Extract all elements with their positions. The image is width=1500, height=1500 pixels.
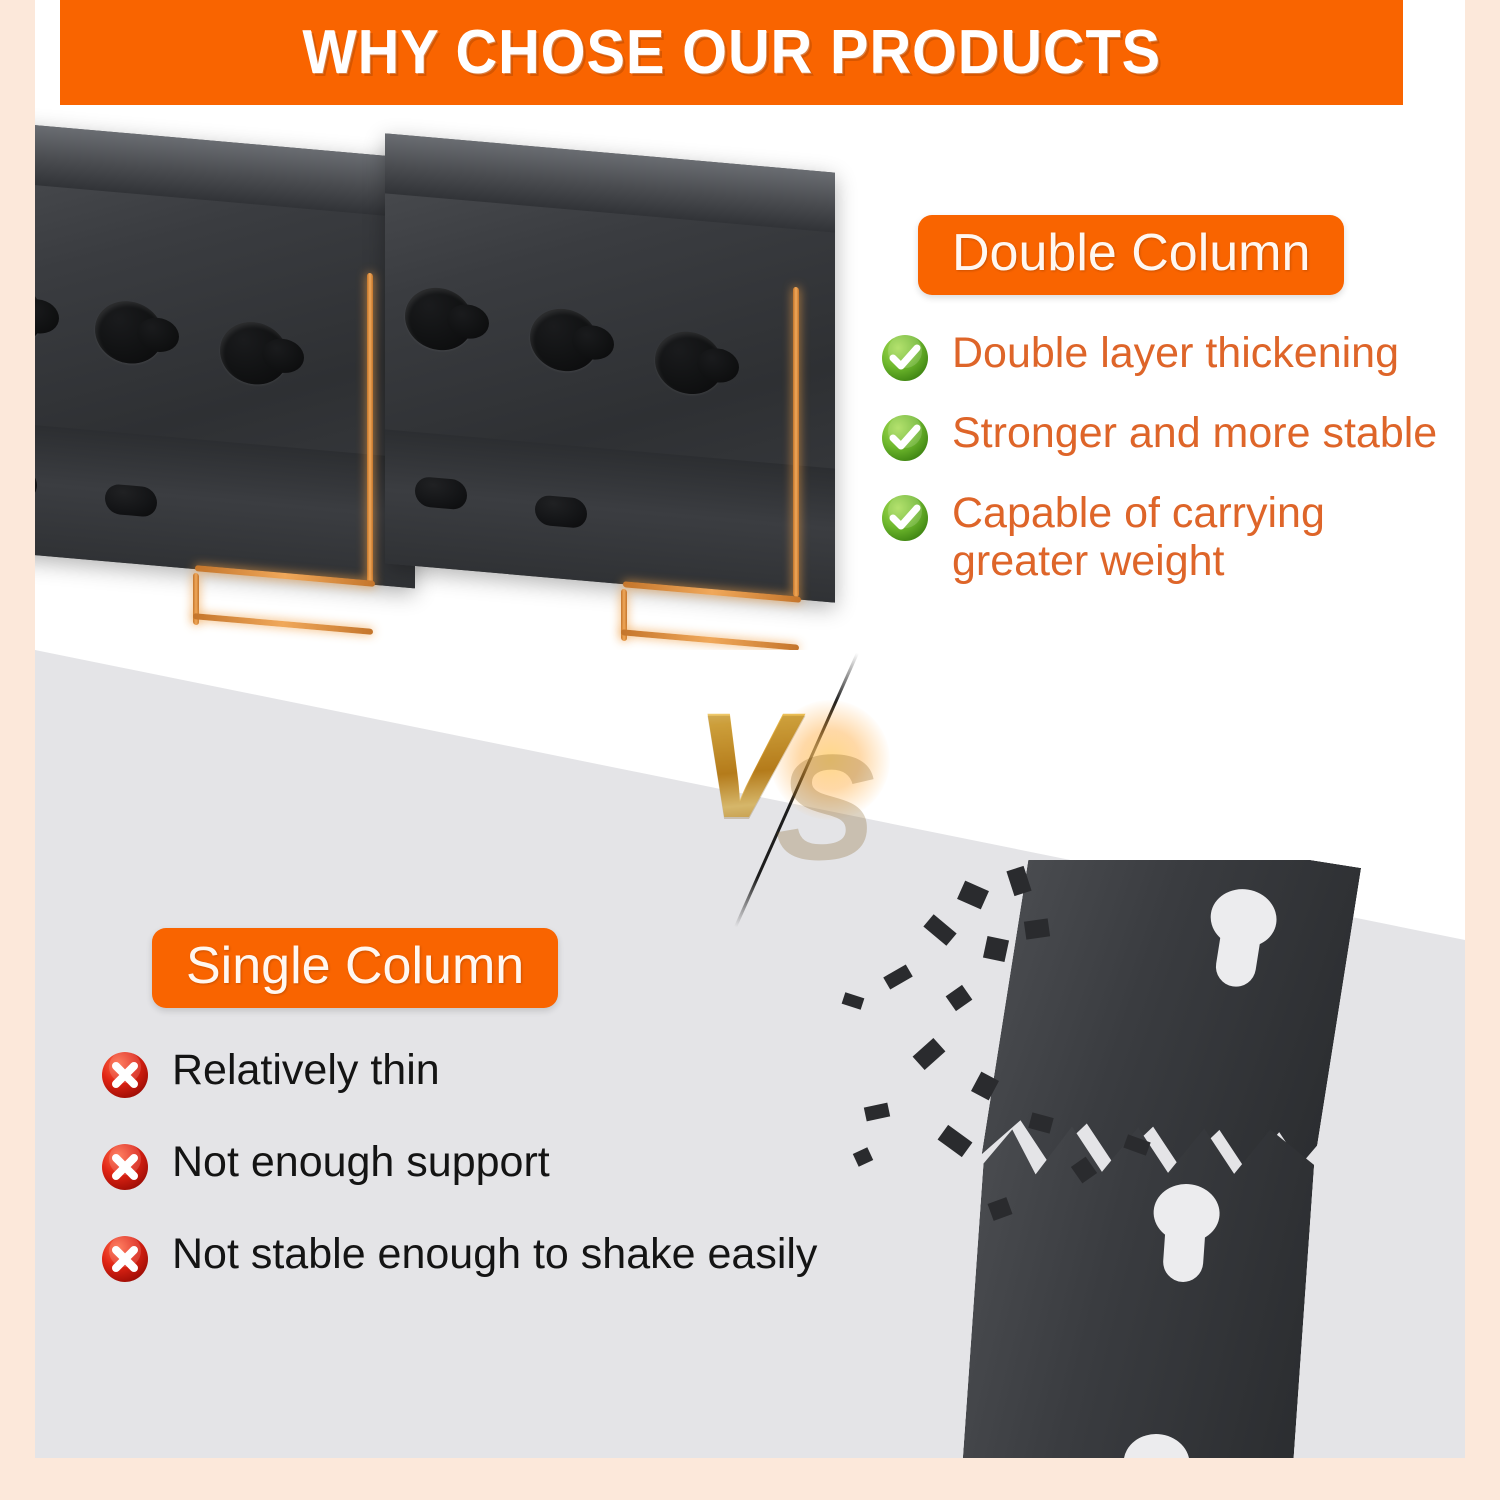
double-column-badge-label: Double Column (952, 225, 1310, 281)
page-title: WHY CHOSE OUR PRODUCTS (302, 17, 1161, 88)
keyhole-slot-small (105, 483, 157, 518)
keyhole-slot-small (535, 494, 587, 529)
double-column-benefit-list: Double layer thickening Stronger and mor… (880, 329, 1465, 585)
edge-highlight (367, 273, 373, 584)
red-x-icon (100, 1142, 150, 1192)
benefit-item-label: Stronger and more stable (952, 409, 1437, 457)
single-column-panel: Single Column (100, 928, 930, 1280)
double-column-panel: Double Column (880, 215, 1465, 585)
red-x-icon (100, 1050, 150, 1100)
debris-fragment (938, 1125, 973, 1157)
benefit-item: Capable of carrying greater weight (880, 489, 1465, 585)
content-canvas: VS Double Column (35, 0, 1465, 1458)
drawback-item-label: Not enough support (172, 1138, 550, 1186)
header-banner: WHY CHOSE OUR PRODUCTS (60, 0, 1403, 105)
debris-fragment (957, 881, 989, 910)
green-check-icon (880, 413, 930, 463)
drawback-item-label: Relatively thin (172, 1046, 440, 1094)
benefit-item: Double layer thickening (880, 329, 1465, 379)
debris-fragment (983, 936, 1009, 962)
keyhole-slot (1162, 1189, 1208, 1284)
drawback-item: Not enough support (100, 1138, 930, 1188)
single-column-badge: Single Column (152, 928, 558, 1008)
versus-letter-s: S (775, 730, 869, 880)
benefit-item-label: Double layer thickening (952, 329, 1399, 377)
edge-highlight (621, 629, 799, 650)
green-check-icon (880, 493, 930, 543)
red-x-icon (100, 1234, 150, 1284)
debris-fragment (1024, 918, 1050, 939)
beam-front (385, 133, 835, 602)
single-column-badge-label: Single Column (186, 938, 524, 994)
versus-label: VS (695, 690, 883, 840)
infographic-page: VS Double Column (0, 0, 1500, 1500)
drawback-item-label: Not stable enough to shake easily (172, 1230, 817, 1278)
edge-highlight (193, 613, 373, 635)
double-column-product-image (35, 105, 865, 650)
debris-fragment (946, 985, 973, 1011)
benefit-item-label: Capable of carrying greater weight (952, 489, 1382, 585)
drawback-item: Not stable enough to shake easily (100, 1230, 930, 1280)
keyhole-slot (1132, 1439, 1178, 1458)
single-column-drawback-list: Relatively thin Not enough support (100, 1046, 930, 1280)
edge-highlight (793, 287, 799, 598)
beam-back (35, 122, 415, 589)
keyhole-slot-small (415, 476, 467, 511)
benefit-item: Stronger and more stable (880, 409, 1465, 459)
drawback-item: Relatively thin (100, 1046, 930, 1096)
green-check-icon (880, 333, 930, 383)
double-column-badge: Double Column (918, 215, 1344, 295)
